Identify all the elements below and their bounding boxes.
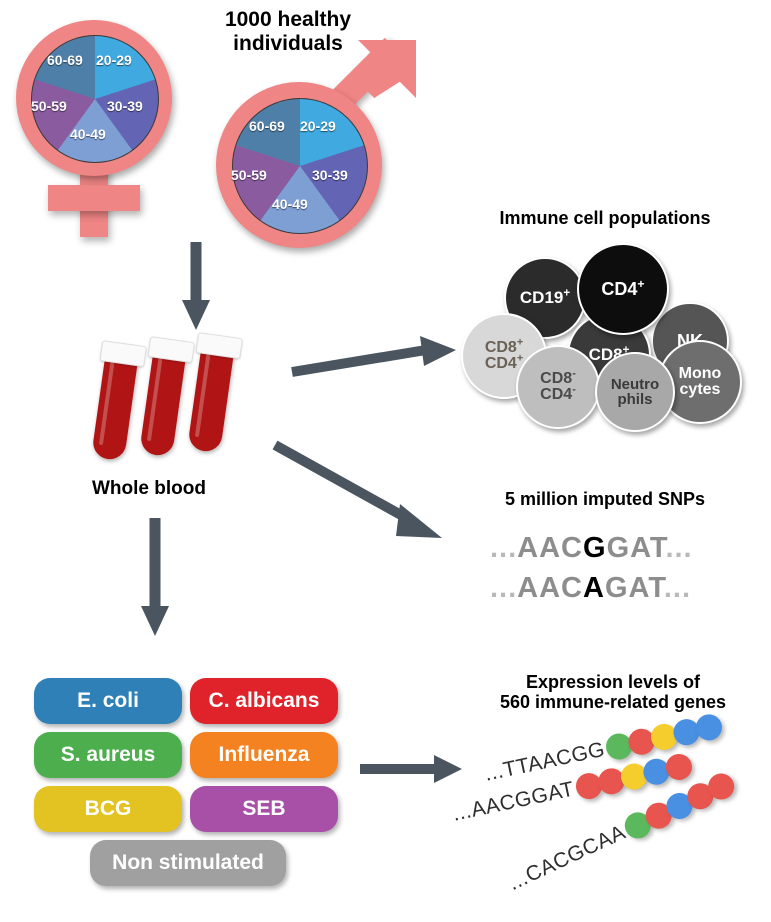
stimulus-c-albicans[interactable]: C. albicans bbox=[190, 678, 338, 724]
blood-tubes bbox=[100, 340, 260, 460]
cohort-title-line1: 1000 healthy bbox=[168, 8, 408, 32]
cell-monocytes-label: Monocytes bbox=[679, 366, 722, 399]
female-pie-label-60-69: 60-69 bbox=[47, 52, 83, 68]
male-pie-label-20-29: 20-29 bbox=[300, 118, 336, 134]
stimulus-s-aureus[interactable]: S. aureus bbox=[34, 732, 182, 778]
female-symbol-crossbar bbox=[48, 185, 140, 211]
arrow-blood-to-stimuli bbox=[137, 518, 173, 638]
cell-cd8cd4-dp-label: CD8+CD4+ bbox=[485, 340, 523, 373]
expression-strand-sequence: ...AACGGAT bbox=[451, 778, 577, 827]
expression-strand-sequence: ...CACGCAA bbox=[505, 821, 630, 896]
male-pie-label-30-39: 30-39 bbox=[312, 167, 348, 183]
male-pie-label-50-59: 50-59 bbox=[231, 167, 267, 183]
expression-title-line1: Expression levels of bbox=[460, 672, 766, 692]
blood-tube-shine bbox=[147, 357, 163, 441]
expression-title-line2: 560 immune-related genes bbox=[460, 692, 766, 712]
cell-neutrophils: Neutrophils bbox=[595, 352, 675, 432]
snp-trail: ... bbox=[665, 532, 692, 564]
stimulus-influenza[interactable]: Influenza bbox=[190, 732, 338, 778]
snp-pre: AAC bbox=[517, 532, 583, 564]
male-pie-label-60-69: 60-69 bbox=[249, 118, 285, 134]
snp-pre: AAC bbox=[517, 572, 583, 604]
cell-cd8cd4-dn: CD8-CD4- bbox=[516, 345, 600, 429]
stimulus-e-coli[interactable]: E. coli bbox=[34, 678, 182, 724]
snp-trail: ... bbox=[664, 572, 691, 604]
snp-post: GAT bbox=[607, 532, 666, 564]
immune-title: Immune cell populations bbox=[455, 208, 755, 228]
male-symbol: 20-29 30-39 40-49 50-59 60-69 bbox=[208, 40, 418, 255]
blood-tube-body bbox=[91, 350, 139, 462]
snp-row: ...AACGGAT... bbox=[490, 532, 693, 565]
blood-tube bbox=[91, 350, 139, 462]
snp-lead: ... bbox=[490, 532, 517, 564]
expression-bead bbox=[694, 712, 725, 743]
blood-tube-shine bbox=[195, 353, 211, 437]
female-symbol: 20-29 30-39 40-49 50-59 60-69 bbox=[8, 12, 198, 242]
male-symbol-arrowhead bbox=[358, 40, 416, 98]
whole-blood-label: Whole blood bbox=[92, 478, 206, 500]
stimuli-panel: E. coli C. albicans S. aureus Influenza … bbox=[30, 678, 340, 898]
snp-lead: ... bbox=[490, 572, 517, 604]
arrow-blood-to-snps bbox=[272, 440, 447, 550]
expression-strands: ...TTAACGG ...AACGGAT ...CACGCAA bbox=[455, 730, 771, 910]
blood-tube-body bbox=[187, 342, 235, 454]
blood-tube bbox=[187, 342, 235, 454]
female-pie-label-30-39: 30-39 bbox=[107, 98, 143, 114]
expression-title: Expression levels of 560 immune-related … bbox=[460, 672, 766, 712]
blood-tube-body bbox=[139, 346, 187, 458]
blood-tube-shine bbox=[99, 361, 115, 445]
blood-tube bbox=[139, 346, 187, 458]
study-design-figure: 1000 healthy individuals 20-29 30-39 40-… bbox=[0, 0, 771, 922]
cell-neutrophils-label: Neutrophils bbox=[611, 377, 659, 408]
female-pie-label-40-49: 40-49 bbox=[70, 126, 106, 142]
snps-title: 5 million imputed SNPs bbox=[455, 489, 755, 509]
snp-post: GAT bbox=[605, 572, 664, 604]
stimulus-seb[interactable]: SEB bbox=[190, 786, 338, 832]
immune-cell-cluster: CD19+ CD4+ NK CD8+CD4+ CD8+ Monocytes CD… bbox=[455, 240, 755, 420]
arrow-stimuli-to-expression bbox=[358, 752, 464, 786]
female-pie-label-20-29: 20-29 bbox=[96, 52, 132, 68]
snp-allele: G bbox=[583, 532, 607, 564]
stimulus-bcg[interactable]: BCG bbox=[34, 786, 182, 832]
snp-sequences: ...AACGGAT... ...AACAGAT... bbox=[480, 528, 760, 618]
female-pie-label-50-59: 50-59 bbox=[31, 98, 67, 114]
snp-allele: A bbox=[583, 572, 605, 604]
snp-row: ...AACAGAT... bbox=[490, 572, 691, 605]
arrow-cohort-to-blood bbox=[178, 242, 214, 332]
cell-cd4: CD4+ bbox=[577, 243, 669, 335]
cell-cd4-label: CD4+ bbox=[601, 280, 644, 298]
cell-cd19-label: CD19+ bbox=[520, 289, 570, 306]
arrow-blood-to-immune bbox=[290, 330, 460, 390]
stimulus-non-stimulated[interactable]: Non stimulated bbox=[90, 840, 286, 886]
male-pie-label-40-49: 40-49 bbox=[272, 196, 308, 212]
cell-cd8cd4-dn-label: CD8-CD4- bbox=[540, 371, 576, 404]
